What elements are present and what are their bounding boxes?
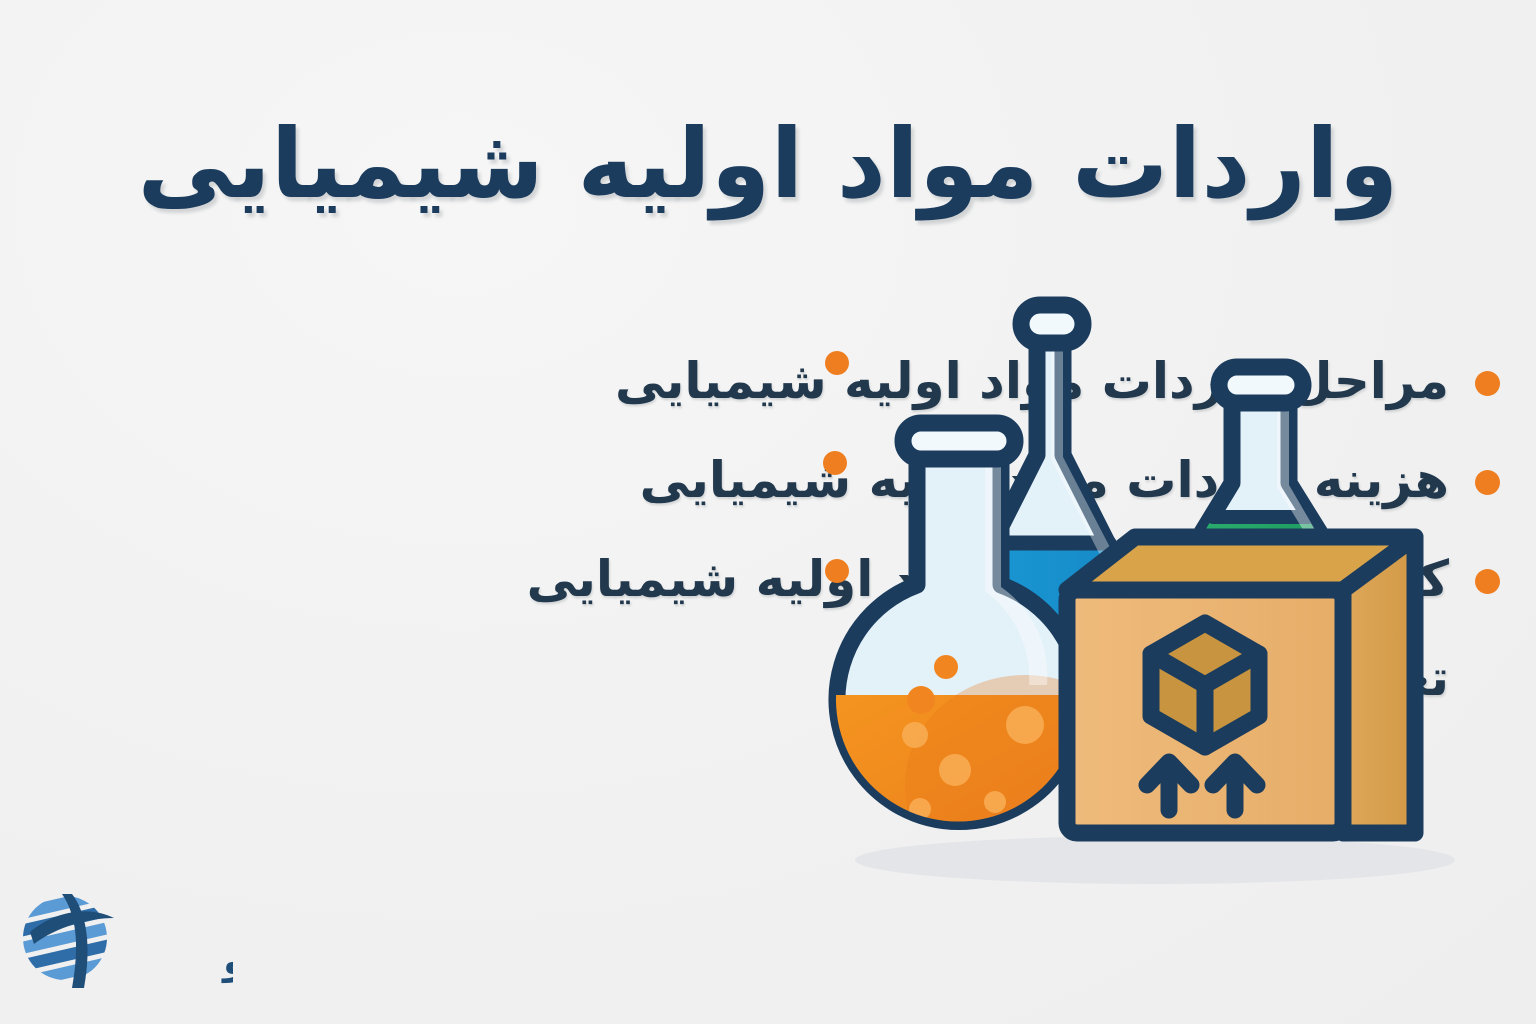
bubble bbox=[902, 722, 928, 748]
decorative-dots bbox=[823, 351, 849, 583]
flask-rim bbox=[1021, 305, 1083, 343]
bullet-dot-icon-placeholder bbox=[1475, 668, 1500, 693]
bullet-dot-icon bbox=[1475, 470, 1500, 495]
brand-text: واردتو bbox=[221, 939, 233, 984]
box-side bbox=[1343, 537, 1415, 833]
ground-shadow bbox=[855, 836, 1455, 884]
flask-rim bbox=[903, 423, 1015, 459]
bullet-dot-icon bbox=[1475, 569, 1500, 594]
bubble bbox=[934, 655, 958, 679]
bubble bbox=[907, 686, 935, 714]
bullet-dot-icon bbox=[1475, 371, 1500, 396]
hero-illustration bbox=[815, 285, 1475, 925]
page-title: واردات مواد اولیه شیمیایی bbox=[70, 108, 1466, 221]
brand-logo[interactable]: واردتو bbox=[18, 888, 233, 998]
cardboard-box bbox=[1067, 537, 1415, 833]
package-cube-icon bbox=[1151, 623, 1259, 747]
bubble bbox=[984, 791, 1006, 813]
bubble bbox=[939, 754, 971, 786]
flask-rim bbox=[1219, 367, 1303, 403]
bubble bbox=[1006, 706, 1044, 744]
